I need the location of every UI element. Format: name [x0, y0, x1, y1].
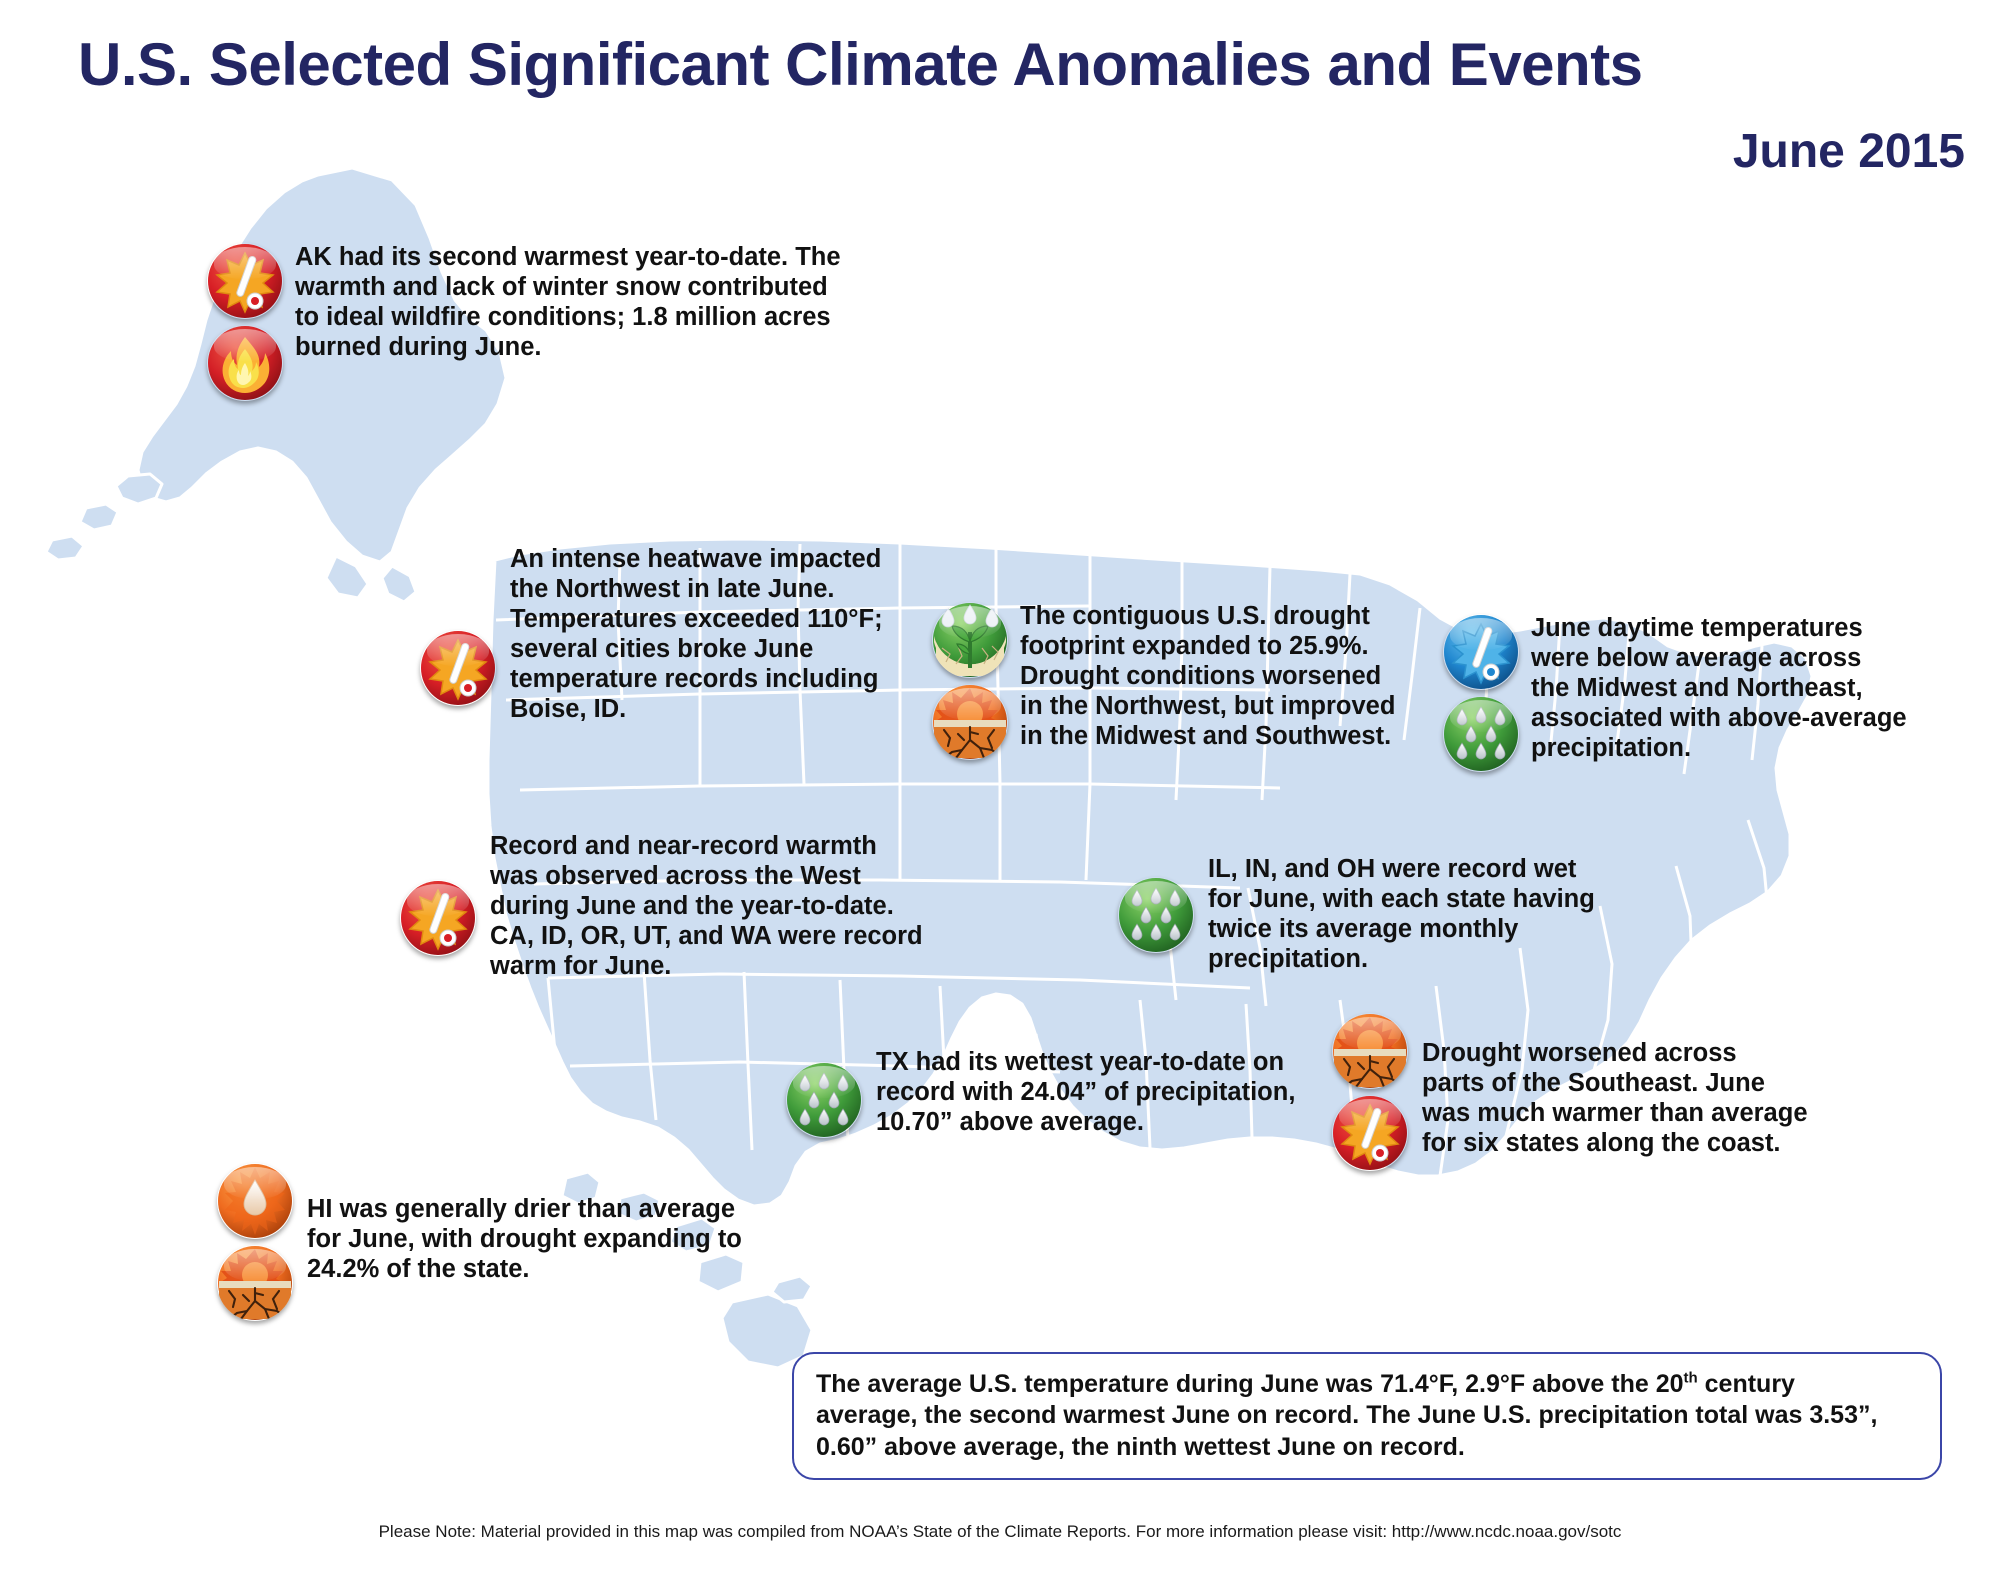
callout-text: The contiguous U.S. drought footprint ex… [1020, 602, 1395, 752]
icon-group [420, 630, 496, 706]
callout-text: Drought worsened across parts of the Sou… [1422, 1039, 1808, 1159]
callout-text: HI was generally drier than average for … [307, 1195, 742, 1285]
callout-alaska: AK had its second warmest year-to-date. … [207, 243, 841, 401]
ordinal-suffix: th [1684, 1370, 1698, 1387]
precipitation-icon [1118, 877, 1194, 953]
callout-west-record-warmth: Record and near-record warmth was observ… [400, 832, 923, 982]
hot-temperature-icon [1332, 1095, 1408, 1171]
precipitation-icon [1443, 696, 1519, 772]
hot-temperature-icon [400, 880, 476, 956]
precipitation-icon [786, 1062, 862, 1138]
callout-midwest-northeast-cool: June daytime temperatures were below ave… [1443, 614, 1907, 772]
summary-line-3: 0.60” above average, the ninth wettest J… [816, 1432, 1920, 1463]
summary-line-2: average, the second warmest June on reco… [816, 1400, 1920, 1431]
dryness-icon [217, 1163, 293, 1239]
cold-temperature-icon [1443, 614, 1519, 690]
summary-line-1-tail: century [1698, 1370, 1795, 1398]
icon-group [786, 1062, 862, 1138]
page-title: U.S. Selected Significant Climate Anomal… [78, 30, 1643, 99]
climate-anomalies-map-page: .land { fill:#cedef1; stroke:#ffffff; st… [0, 0, 2000, 1570]
drought-icon [1332, 1013, 1408, 1089]
callout-ohio-valley-wet: IL, IN, and OH were record wet for June,… [1118, 855, 1595, 975]
callout-text: TX had its wettest year-to-date on recor… [876, 1048, 1295, 1138]
hot-temperature-icon [420, 630, 496, 706]
drought-recovery-icon [932, 602, 1008, 678]
summary-line-1-text: The average U.S. temperature during June… [816, 1370, 1684, 1398]
wildfire-icon [207, 325, 283, 401]
summary-box: The average U.S. temperature during June… [792, 1352, 1942, 1480]
callout-drought-footprint: The contiguous U.S. drought footprint ex… [932, 602, 1395, 760]
callout-northwest-heatwave: An intense heatwave impacted the Northwe… [420, 545, 883, 725]
icon-group [217, 1163, 293, 1321]
callout-text: An intense heatwave impacted the Northwe… [510, 545, 883, 725]
callout-southeast-drought: Drought worsened across parts of the Sou… [1332, 1013, 1808, 1171]
icon-group [207, 243, 283, 401]
icon-group [932, 602, 1008, 760]
icon-group [400, 880, 476, 956]
footer-note: Please Note: Material provided in this m… [0, 1522, 2000, 1542]
icon-group [1118, 877, 1194, 953]
callout-hawaii-dry: HI was generally drier than average for … [217, 1163, 742, 1321]
hot-temperature-icon [207, 243, 283, 319]
icon-group [1443, 614, 1519, 772]
drought-icon [217, 1245, 293, 1321]
callout-text: Record and near-record warmth was observ… [490, 832, 923, 982]
page-subtitle: June 2015 [1733, 124, 1965, 179]
icon-group [1332, 1013, 1408, 1171]
drought-icon [932, 684, 1008, 760]
us-map-graphic: .land { fill:#cedef1; stroke:#ffffff; st… [0, 0, 2000, 1570]
summary-line-1: The average U.S. temperature during June… [816, 1369, 1920, 1400]
callout-texas-wet: TX had its wettest year-to-date on recor… [786, 1048, 1295, 1138]
callout-text: June daytime temperatures were below ave… [1531, 614, 1907, 764]
callout-text: IL, IN, and OH were record wet for June,… [1208, 855, 1595, 975]
callout-text: AK had its second warmest year-to-date. … [295, 243, 841, 363]
